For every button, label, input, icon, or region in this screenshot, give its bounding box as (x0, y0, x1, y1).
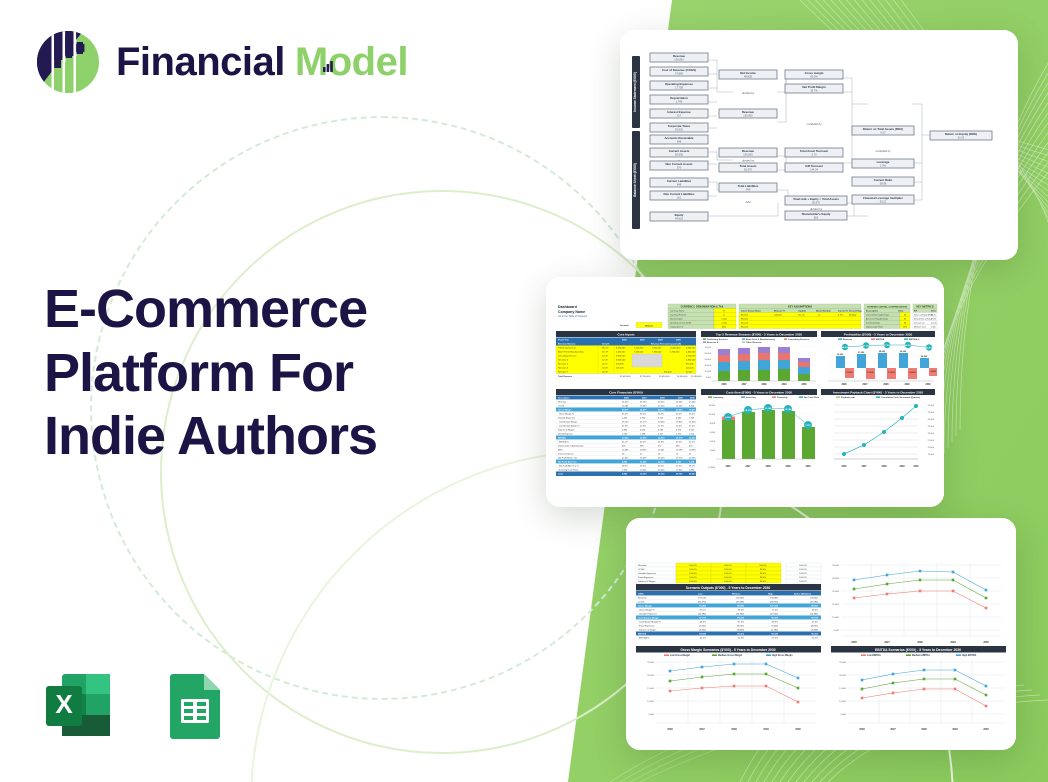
svg-text:Interest Expense: Interest Expense (558, 452, 574, 455)
svg-text:10,000: 10,000 (658, 469, 665, 471)
svg-text:50,000: 50,000 (705, 359, 712, 361)
svg-text:Gross Margin %: Gross Margin % (639, 608, 655, 611)
svg-text:48.3%: 48.3% (700, 621, 706, 623)
svg-text:-13,500: -13,500 (887, 372, 895, 374)
svg-text:Depreciation & Amortisation: Depreciation & Amortisation (558, 444, 584, 447)
svg-text:1,327: 1,327 (658, 433, 664, 435)
svg-text:40.1%: 40.1% (700, 637, 706, 639)
svg-text:41.5%: 41.5% (689, 441, 695, 443)
svg-text:34,560: 34,560 (676, 401, 683, 403)
svg-text:(3,860): (3,860) (737, 629, 744, 631)
svg-text:8,930: 8,930 (689, 405, 695, 407)
svg-text:19,100: 19,100 (640, 474, 647, 476)
svg-text:23,050: 23,050 (658, 409, 665, 411)
svg-text:-13,000: -13,000 (866, 372, 874, 374)
svg-text:multiplied by: multiplied by (876, 149, 892, 153)
svg-text:Fixed Expenses: Fixed Expenses (638, 577, 654, 579)
svg-text:14,833: 14,833 (658, 436, 665, 439)
svg-text:Current Ratio: Current Ratio (874, 178, 893, 182)
svg-text:105.0%: 105.0% (689, 569, 696, 571)
svg-text:Revenue: Revenue (673, 54, 685, 58)
svg-text:100.0%: 100.0% (724, 581, 731, 583)
svg-text:Description: Description (558, 396, 570, 399)
svg-text:50,006: 50,006 (675, 153, 683, 157)
svg-text:10,590: 10,590 (689, 437, 696, 439)
svg-text:Revenue 7: Revenue 7 (558, 371, 569, 373)
svg-text:1.9%: 1.9% (880, 164, 887, 168)
svg-text:Secure Flags: Secure Flags (849, 309, 863, 312)
svg-text:Leverage: Leverage (877, 160, 890, 164)
svg-text:CURRENCY, DENOMINATION & TAX: CURRENCY, DENOMINATION & TAX (681, 305, 724, 308)
svg-text:2030: 2030 (983, 728, 989, 731)
svg-text:Financing: Financing (777, 397, 788, 399)
svg-text:Revenue: Revenue (558, 401, 567, 403)
svg-text:55.1%: 55.1% (700, 609, 706, 611)
svg-text:Brand 4: Brand 4 (741, 325, 749, 328)
scenario-analysis-screenshot[interactable]: .bt3{font-family:"Liberation Sans",sans-… (626, 518, 1016, 750)
svg-text:19,820: 19,820 (676, 421, 683, 423)
svg-text:Jan-25: Jan-25 (931, 322, 937, 324)
svg-text:Jul 28: Jul 28 (602, 360, 608, 362)
svg-text:Currency Feature: Currency Feature (670, 313, 687, 316)
svg-text:Accounts Receivable: Accounts Receivable (664, 136, 693, 140)
svg-text:Fiscal Year: Fiscal Year (558, 338, 569, 341)
svg-text:9,642: 9,642 (676, 460, 682, 463)
svg-text:Interest Expense: Interest Expense (667, 110, 691, 114)
svg-text:Company Name: Company Name (558, 310, 585, 314)
svg-text:100.0%: 100.0% (799, 565, 806, 567)
svg-text:KEY METRICS: KEY METRICS (916, 305, 933, 308)
svg-text:X: X (55, 689, 73, 719)
svg-text:948: 948 (677, 140, 682, 144)
svg-text:12,100: 12,100 (676, 405, 683, 407)
svg-text:Active (Medium): Active (Medium) (794, 592, 811, 595)
svg-text:2028: 2028 (921, 728, 927, 731)
svg-text:95.0%: 95.0% (760, 581, 766, 583)
brand-name-model: Model (295, 42, 408, 82)
svg-text:2029: 2029 (904, 384, 910, 386)
svg-text:Inventory Days: Inventory Days (866, 321, 880, 324)
svg-text:27.9%: 27.9% (676, 465, 682, 467)
svg-text:Revenue 5: Revenue 5 (558, 364, 569, 366)
svg-text:Internal Rate of Return: Internal Rate of Return (914, 317, 932, 320)
svg-text:2030: 2030 (801, 384, 807, 386)
svg-text:48,828: 48,828 (744, 75, 752, 79)
svg-text:800,000: 800,000 (664, 371, 672, 373)
svg-text:5,000: 5,000 (706, 377, 712, 379)
svg-text:14,435: 14,435 (658, 457, 665, 459)
svg-text:41.2%: 41.2% (622, 441, 628, 443)
svg-text:Dashboard: Dashboard (558, 305, 577, 309)
svg-text:6,000: 6,000 (710, 432, 716, 434)
svg-text:(4,180): (4,180) (771, 629, 778, 631)
svg-text:949: 949 (746, 188, 751, 192)
svg-text:1,280: 1,280 (640, 433, 646, 435)
svg-text:42,000: 42,000 (928, 419, 935, 421)
svg-text:420,000: 420,000 (686, 368, 694, 370)
svg-text:Net Income: Net Income (740, 71, 756, 75)
svg-text:10,500: 10,500 (640, 469, 647, 471)
svg-text:13,798: 13,798 (676, 449, 683, 451)
svg-text:47.0%: 47.0% (931, 318, 936, 320)
svg-text:2026: 2026 (851, 641, 857, 644)
svg-text:13,774: 13,774 (676, 457, 683, 459)
svg-text:14,650: 14,650 (689, 421, 696, 423)
file-format-icons: X (40, 666, 234, 744)
svg-text:63.22: 63.22 (880, 200, 887, 204)
svg-text:KPI: KPI (914, 310, 918, 312)
svg-text:2029: 2029 (952, 728, 958, 731)
svg-text:105.0%: 105.0% (689, 581, 696, 583)
svg-text:570: 570 (677, 166, 682, 170)
svg-text:41.0%: 41.0% (676, 441, 682, 443)
svg-text:35,450: 35,450 (658, 401, 665, 403)
circle-bar-chart-logo-icon (34, 28, 102, 96)
svg-text:Marks Monthly: Marks Monthly (816, 309, 831, 312)
svg-text:2029: 2029 (781, 384, 787, 386)
svg-text:500,000: 500,000 (616, 364, 624, 366)
svg-text:Publishing Services: Publishing Services (558, 347, 576, 350)
svg-text:Latest Known Name: Latest Known Name (741, 309, 762, 312)
svg-text:12,000: 12,000 (709, 405, 716, 407)
svg-text:57.3%: 57.3% (640, 425, 646, 427)
svg-text:34,560,000: 34,560,000 (677, 376, 688, 378)
poster-canvas: Financial Model E-Commerce Platform For … (0, 0, 1048, 782)
brand-logo[interactable]: Financial Model (34, 28, 408, 96)
svg-text:65.0%: 65.0% (622, 413, 628, 415)
svg-text:(8,037): (8,037) (811, 625, 818, 627)
svg-text:Revenue 6: Revenue 6 (558, 368, 569, 370)
svg-text:Contribution Margin: Contribution Margin (559, 420, 578, 423)
svg-text:EBITDA %: EBITDA % (559, 440, 569, 443)
svg-text:27,000: 27,000 (928, 440, 935, 442)
svg-text:Minimum Cash: Minimum Cash (914, 326, 926, 328)
svg-text:11,240: 11,240 (765, 407, 772, 410)
svg-text:divided by: divided by (742, 159, 755, 163)
svg-text:Corporation %: Corporation % (670, 325, 683, 328)
svg-text:4,400,000: 4,400,000 (686, 352, 696, 354)
svg-text:Value: Value (931, 310, 936, 312)
svg-text:2026: 2026 (667, 728, 673, 731)
svg-text:105.0%: 105.0% (689, 573, 696, 575)
svg-text:2029: 2029 (785, 466, 791, 468)
svg-text:Consulting Services: Consulting Services (788, 338, 810, 341)
svg-text:7,272: 7,272 (805, 425, 811, 427)
svg-text:Corporate Taxes: Corporate Taxes (668, 124, 691, 128)
dupont-balance-nodes: Accounts Receivable948 Current Assets50,… (650, 135, 708, 221)
svg-text:158,380: 158,380 (770, 597, 779, 599)
svg-text:2027: 2027 (862, 384, 868, 386)
svg-text:Add: Add (745, 200, 751, 204)
svg-text:95.0%: 95.0% (760, 569, 766, 571)
svg-text:Total Assets: Total Assets (740, 164, 757, 168)
svg-text:Revenue: Revenue (638, 565, 648, 567)
page-title: E-Commerce Platform For Indie Authors (44, 278, 484, 469)
svg-text:57.3%: 57.3% (676, 425, 682, 427)
svg-text:Variable Expenses: Variable Expenses (638, 572, 657, 575)
svg-text:EBITDA: EBITDA (638, 632, 647, 635)
svg-text:17,758: 17,758 (675, 86, 683, 90)
svg-text:71.4%: 71.4% (772, 609, 778, 611)
svg-text:21,770: 21,770 (640, 421, 647, 423)
svg-text:Revenue: Revenue (742, 110, 754, 114)
svg-text:10,256: 10,256 (689, 457, 696, 459)
svg-text:Book Print & Manufacturing: Book Print & Manufacturing (558, 351, 584, 354)
svg-text:Payback year: Payback year (841, 397, 855, 399)
svg-text:Total Liab + Equity = Total As: Total Liab + Equity = Total Assets (793, 197, 839, 201)
svg-text:62,000: 62,000 (686, 371, 693, 373)
svg-text:57.0%: 57.0% (772, 637, 778, 639)
scenario-outputs-table: Revenue173,130156,800158,380136,800 COGS… (636, 596, 821, 640)
svg-text:88,900: 88,900 (737, 605, 744, 607)
svg-text:divided by: divided by (742, 91, 755, 95)
svg-text:(7,921): (7,921) (699, 625, 706, 627)
svg-text:5,000: 5,000 (649, 714, 655, 716)
svg-text:27,000: 27,000 (858, 352, 865, 354)
svg-text:Non Current Assets: Non Current Assets (665, 162, 692, 166)
svg-text:10,280: 10,280 (689, 449, 696, 451)
svg-text:20,570: 20,570 (622, 409, 629, 411)
google-sheets-icon[interactable] (156, 666, 234, 744)
svg-text:6,450,000: 6,450,000 (616, 348, 626, 350)
headline-line-2: Platform For (44, 342, 484, 406)
svg-text:2,420: 2,420 (622, 417, 628, 419)
svg-text:COGS: COGS (558, 405, 565, 407)
svg-text:49,626: 49,626 (675, 217, 683, 221)
svg-text:2030: 2030 (913, 466, 919, 468)
svg-text:Low EBITDA: Low EBITDA (867, 654, 881, 657)
svg-text:29.5%: 29.5% (640, 465, 646, 467)
svg-text:Cumulative Cash Generated (Qua: Cumulative Cash Generated (Quarter) (881, 396, 920, 399)
svg-text:35,450,000: 35,450,000 (659, 376, 670, 378)
svg-text:(47,880): (47,880) (736, 601, 744, 603)
svg-text:Net Profit After Tax: Net Profit After Tax (558, 460, 578, 463)
svg-text:57.3%: 57.3% (812, 621, 818, 623)
svg-text:Net Cash Flow: Net Cash Flow (804, 396, 819, 399)
dashboard-sheet: .hd{font-family:"Liberation Sans",sans-s… (546, 277, 944, 507)
svg-text:28.0%: 28.0% (622, 465, 628, 467)
svg-text:100,100: 100,100 (616, 368, 624, 370)
scenario-percent-table: Revenue 100.0%100.0% 110.0%100.0% COGS 1… (636, 563, 821, 583)
svg-text:EBITDA Scenarios ($'000) - 5 Y: EBITDA Scenarios ($'000) - 5 Years to De… (875, 648, 961, 652)
svg-text:22,460: 22,460 (676, 408, 683, 411)
svg-text:(13,380): (13,380) (736, 613, 744, 615)
svg-text:136,800: 136,800 (674, 58, 684, 62)
svg-text:61.03: 61.03 (931, 314, 936, 316)
svg-text:110.0%: 110.0% (759, 565, 766, 567)
svg-text:2029: 2029 (763, 728, 769, 731)
svg-text:6,890: 6,890 (689, 469, 695, 471)
svg-text:5,350,000: 5,350,000 (616, 352, 626, 354)
svg-text:Rental Expense: Rental Expense (558, 432, 574, 435)
svg-text:multiplied by: multiplied by (807, 122, 823, 126)
svg-text:16,600: 16,600 (689, 409, 696, 411)
svg-text:Total Revenue: Total Revenue (558, 375, 573, 378)
svg-text:2027: 2027 (745, 466, 751, 468)
svg-text:-: - (679, 63, 680, 67)
svg-text:2028: 2028 (883, 384, 889, 386)
svg-text:16,400: 16,400 (640, 436, 647, 439)
svg-text:11,080: 11,080 (622, 405, 629, 407)
svg-text:10,000,000: 10,000,000 (670, 348, 681, 350)
svg-text:2029: 2029 (899, 466, 905, 468)
svg-text:136,800: 136,800 (810, 597, 819, 599)
svg-text:76,400: 76,400 (699, 604, 706, 607)
svg-text:29,000: 29,000 (900, 351, 907, 353)
svg-text:-14,000: -14,000 (908, 371, 916, 374)
svg-text:Revenue Forecast by years ($): Revenue Forecast by years ($) (651, 342, 681, 345)
svg-text:58.98: 58.98 (880, 182, 887, 186)
svg-text:Revenue Streams: Revenue Streams (558, 342, 576, 345)
svg-text:8,860: 8,860 (622, 461, 628, 463)
svg-text:7,190,000: 7,190,000 (652, 352, 662, 354)
svg-text:4.3%: 4.3% (838, 314, 843, 316)
svg-text:95.0%: 95.0% (760, 577, 766, 579)
svg-text:Publishing Services: Publishing Services (707, 339, 729, 341)
svg-text:1,950: 1,950 (689, 417, 695, 419)
svg-text:63.3%: 63.3% (772, 621, 778, 623)
svg-text:66,413: 66,413 (737, 632, 744, 635)
svg-text:2029: 2029 (950, 641, 956, 644)
svg-text:Medium EBITDA: Medium EBITDA (912, 654, 930, 657)
svg-text:Revenue 4: Revenue 4 (558, 360, 569, 362)
svg-text:1,000: 1,000 (721, 322, 727, 324)
headline-line-3: Indie Authors (44, 405, 484, 469)
svg-text:5,700,000: 5,700,000 (670, 352, 680, 354)
svg-text:(8,037): (8,037) (737, 625, 744, 627)
svg-text:Other Revenue: Other Revenue (746, 341, 762, 344)
svg-text:70,000: 70,000 (705, 347, 712, 349)
svg-text:47.8%: 47.8% (884, 344, 890, 347)
svg-text:144.24: 144.24 (810, 168, 818, 172)
svg-text:7,179: 7,179 (689, 461, 695, 463)
svg-text:12,000: 12,000 (928, 454, 935, 456)
svg-text:Revenue: Revenue (843, 339, 853, 341)
svg-text:Depreciation Rate: Depreciation Rate (866, 325, 883, 328)
svg-text:83,330: 83,330 (771, 633, 778, 635)
svg-text:1,010: 1,010 (689, 433, 695, 435)
svg-text:3,050: 3,050 (689, 429, 695, 431)
svg-text:4,090: 4,090 (640, 429, 646, 431)
svg-text:Investing: Investing (746, 396, 756, 399)
svg-text:101: 101 (677, 196, 682, 200)
svg-text:(43,950): (43,950) (770, 601, 778, 603)
svg-text:Brand 3: Brand 3 (741, 321, 749, 324)
svg-text:3,880: 3,880 (622, 429, 628, 431)
financial-dashboard-screenshot[interactable]: .hd{font-family:"Liberation Sans",sans-s… (546, 277, 944, 507)
svg-text:Variable Expenses: Variable Expenses (639, 612, 658, 615)
svg-text:10,000: 10,000 (647, 701, 654, 703)
svg-text:47,000: 47,000 (928, 412, 935, 414)
svg-text:47,880: 47,880 (675, 72, 683, 76)
svg-text:Scenario: Scenario (620, 324, 630, 327)
svg-text:Gross Margin: Gross Margin (558, 408, 572, 411)
svg-text:14,178: 14,178 (676, 436, 683, 439)
microsoft-excel-icon[interactable]: X (40, 666, 118, 744)
svg-text:8,600: 8,600 (725, 417, 731, 419)
svg-text:28,000: 28,000 (879, 351, 886, 353)
svg-text:Scenario Outputs ($'000) - 5 Y: Scenario Outputs ($'000) - 5 Years to De… (686, 586, 771, 590)
svg-text:136,800: 136,800 (743, 114, 753, 118)
svg-text:100.0%: 100.0% (799, 573, 806, 575)
svg-text:40,000: 40,000 (705, 365, 712, 367)
svg-text:16,032: 16,032 (640, 449, 647, 451)
brand-wordmark: Financial Model (116, 42, 408, 82)
svg-text:Cash flow ($'000) - 5 Years to: Cash flow ($'000) - 5 Years to December … (726, 390, 792, 394)
svg-text:2,640: 2,640 (676, 417, 682, 419)
svg-text:Value: Value (898, 310, 904, 312)
svg-text:Mar 30: Mar 30 (602, 347, 609, 350)
svg-text:8,600: 8,600 (622, 474, 628, 476)
svg-text:-: - (679, 119, 680, 123)
svg-text:Net Profit Margin: Net Profit Margin (802, 85, 826, 89)
svg-text:57.3%: 57.3% (738, 621, 744, 623)
svg-text:Depreciation: Depreciation (670, 96, 688, 100)
svg-text:45.0%: 45.0% (926, 347, 932, 350)
svg-text:Book Print & Manufacturing: Book Print & Manufacturing (746, 338, 776, 341)
svg-text:Denomination: Denomination (670, 317, 684, 320)
svg-text:Opening service 31/18: Opening service 31/18 (670, 321, 692, 324)
svg-text:1,785: 1,785 (676, 100, 683, 104)
svg-text:Current Receivable Days: Current Receivable Days (866, 313, 889, 316)
svg-text:46,630: 46,630 (689, 473, 696, 476)
svg-text:7,000,000: 7,000,000 (634, 352, 644, 354)
svg-text:65.0%: 65.0% (812, 609, 818, 611)
dupont-analysis-screenshot[interactable]: .nb{fill:#eef0f3;stroke:#b9c2cc;stroke-w… (620, 30, 1018, 260)
svg-text:Revenue: Revenue (742, 149, 754, 153)
svg-text:Currency Name: Currency Name (670, 309, 685, 312)
svg-text:5,000: 5,000 (834, 630, 840, 632)
svg-text:20,340: 20,340 (658, 421, 665, 423)
svg-text:25,000: 25,000 (832, 591, 839, 593)
svg-text:100.0%: 100.0% (724, 565, 731, 567)
svg-text:15,000: 15,000 (832, 617, 839, 619)
svg-text:13,280: 13,280 (640, 405, 647, 407)
svg-text:54,944: 54,944 (699, 632, 706, 635)
svg-text:31,650,000: 31,650,000 (620, 376, 631, 378)
svg-text:47.1%: 47.1% (863, 345, 869, 348)
svg-text:88,900: 88,900 (811, 605, 818, 607)
svg-text:25,000: 25,000 (647, 662, 654, 664)
svg-text:Profitability ($'000) - 5 Year: Profitability ($'000) - 5 Years to Decem… (844, 332, 913, 336)
svg-text:Revenue 4: Revenue 4 (707, 341, 719, 344)
svg-text:Cost of Revenue (COGS): Cost of Revenue (COGS) (662, 68, 696, 72)
svg-text:2027: 2027 (699, 728, 705, 731)
svg-text:Consulting Services: Consulting Services (558, 355, 576, 358)
svg-text:39,740: 39,740 (676, 473, 683, 476)
svg-text:Total Liabilities: Total Liabilities (738, 184, 759, 188)
svg-text:95.0%: 95.0% (760, 573, 766, 575)
svg-text:16,007: 16,007 (640, 457, 647, 459)
svg-text:2028: 2028 (881, 466, 887, 468)
svg-text:(4,845): (4,845) (699, 629, 706, 631)
svg-text:14,461: 14,461 (658, 449, 665, 451)
svg-text:65.0%: 65.0% (689, 413, 695, 415)
svg-text:29,100: 29,100 (658, 474, 665, 476)
svg-text:4,270: 4,270 (676, 429, 682, 431)
svg-text:Jul 27: Jul 27 (602, 364, 608, 366)
svg-text:25,530: 25,530 (689, 401, 696, 403)
svg-text:2028: 2028 (761, 384, 767, 386)
svg-text:4,180: 4,180 (658, 429, 664, 431)
svg-text:Operating: Operating (713, 396, 724, 399)
svg-text:2,710: 2,710 (658, 417, 664, 419)
svg-text:1,372: 1,372 (676, 433, 682, 435)
svg-text:41.8%: 41.8% (658, 441, 664, 443)
svg-text:20,926: 20,926 (675, 128, 683, 132)
svg-text:3,700,000: 3,700,000 (686, 356, 696, 358)
svg-text:78,310: 78,310 (737, 617, 744, 619)
